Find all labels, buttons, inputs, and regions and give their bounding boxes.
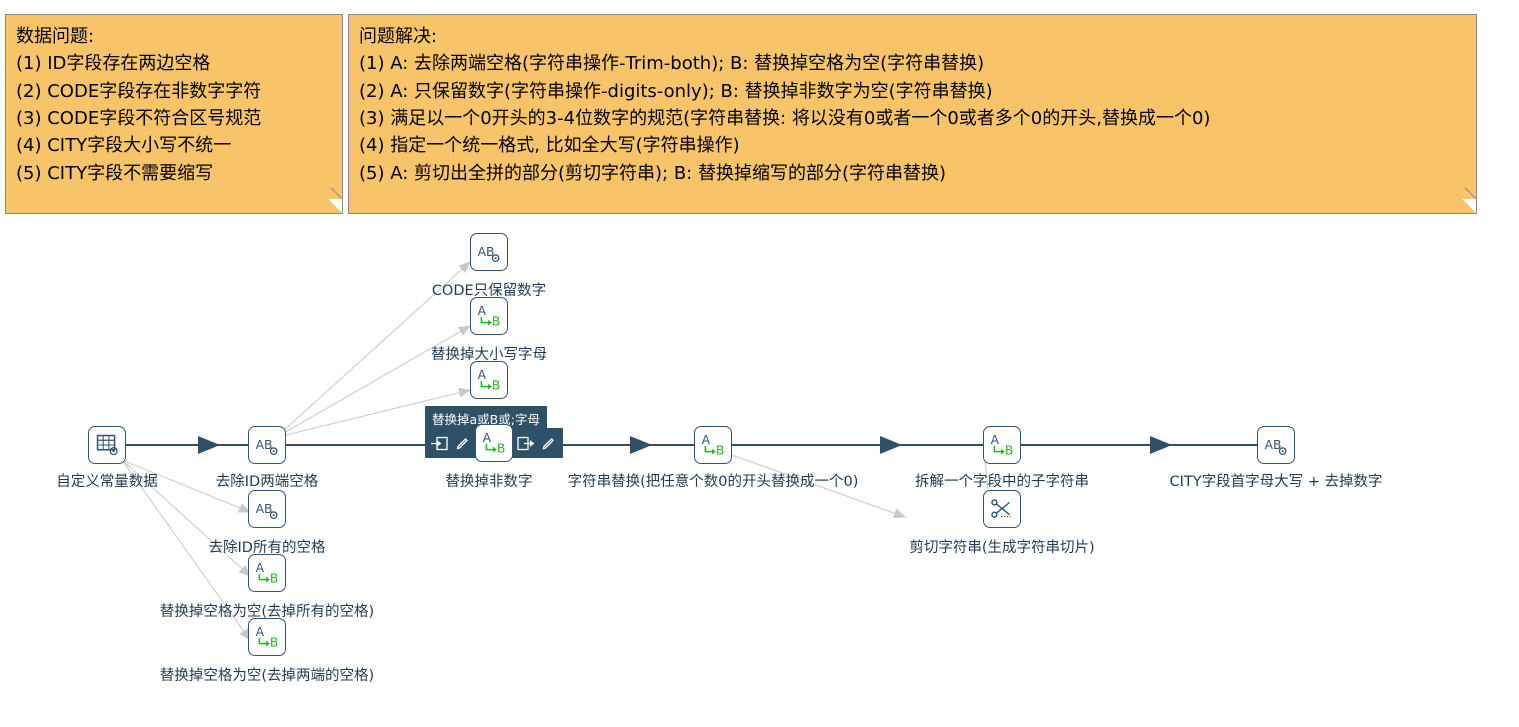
node-replace-case[interactable]: A B (470, 297, 508, 335)
svg-text:A: A (991, 433, 1000, 447)
node-split-sub[interactable]: A B (983, 426, 1021, 464)
node-context-toolbar[interactable]: A B (425, 428, 563, 458)
note-problems-line-2: (2) CODE字段存在非数字字符 (16, 78, 332, 105)
note-solutions-line-4: (4) 指定一个统一格式, 比如全大写(字符串操作) (359, 132, 1466, 159)
node-replace-space-all[interactable]: A B (248, 554, 286, 592)
edit-pen-icon[interactable] (537, 431, 560, 455)
svg-text:B: B (270, 635, 278, 649)
note-solutions-title: 问题解决: (359, 23, 1466, 50)
a-to-b-icon: A B (249, 555, 285, 591)
a-to-b-icon: A B (471, 298, 507, 334)
svg-text:B: B (716, 443, 724, 457)
svg-text:AB: AB (1265, 438, 1282, 452)
ab-gear-icon: AB (1258, 427, 1294, 463)
node-source[interactable] (88, 426, 126, 464)
svg-text:A: A (483, 431, 492, 445)
node-trim-all-id[interactable]: AB (248, 490, 286, 528)
node-city-upper[interactable]: AB (1257, 426, 1295, 464)
ab-gear-icon: AB (249, 491, 285, 527)
insert-before-icon[interactable] (428, 431, 451, 455)
scissors-icon (984, 491, 1020, 527)
svg-text:B: B (497, 441, 505, 455)
svg-text:B: B (270, 571, 278, 585)
a-to-b-icon: A B (471, 362, 507, 398)
svg-text:A: A (256, 561, 265, 575)
svg-text:A: A (478, 368, 487, 382)
svg-text:B: B (492, 378, 500, 392)
node-replace-space-both[interactable]: A B (248, 618, 286, 656)
node-source-label: 自定义常量数据 (56, 470, 158, 491)
svg-text:AB: AB (256, 502, 273, 516)
svg-text:A: A (478, 304, 487, 318)
node-replace-nondigit-label: 替换掉非数字 (446, 470, 533, 491)
svg-text:B: B (1005, 443, 1013, 457)
svg-text:A: A (256, 625, 265, 639)
a-to-b-icon: A B (249, 619, 285, 655)
selected-node-a-to-b-icon[interactable]: A B (475, 424, 513, 462)
note-problems-line-1: (1) ID字段存在两边空格 (16, 50, 332, 77)
node-city-upper-label: CITY字段首字母大写 + 去掉数字 (1170, 470, 1383, 491)
note-problems-line-3: (3) CODE字段不符合区号规范 (16, 105, 332, 132)
note-solutions-line-1: (1) A: 去除两端空格(字符串操作-Trim-both); B: 替换掉空格… (359, 50, 1466, 77)
node-replace-zero[interactable]: A B (694, 426, 732, 464)
diagram-canvas: 数据问题: (1) ID字段存在两边空格 (2) CODE字段存在非数字字符 (… (0, 0, 1519, 727)
node-replace-space-both-label: 替换掉空格为空(去掉两端的空格) (160, 664, 374, 685)
a-to-b-icon: A B (984, 427, 1020, 463)
note-solutions-line-3: (3) 满足以一个0开头的3-4位数字的规范(字符串替换: 将以没有0或者一个0… (359, 105, 1466, 132)
node-cut-string[interactable] (983, 490, 1021, 528)
node-code-digits-only[interactable]: AB (470, 233, 508, 271)
note-solutions-line-2: (2) A: 只保留数字(字符串操作-digits-only); B: 替换掉非… (359, 78, 1466, 105)
svg-text:AB: AB (478, 245, 495, 259)
node-replace-ab[interactable]: A B (470, 361, 508, 399)
note-problems-line-5: (5) CITY字段不需要缩写 (16, 160, 332, 187)
ab-gear-icon: AB (471, 234, 507, 270)
note-solutions-line-5: (5) A: 剪切出全拼的部分(剪切字符串); B: 替换掉缩写的部分(字符串替… (359, 160, 1466, 187)
svg-text:A: A (702, 433, 711, 447)
node-trim-id[interactable]: AB (248, 426, 286, 464)
svg-text:B: B (492, 314, 500, 328)
table-gear-icon (89, 427, 125, 463)
note-fold-corner-icon (328, 199, 343, 214)
insert-after-icon[interactable] (514, 431, 537, 455)
note-fold-corner-icon (1462, 199, 1477, 214)
note-problems-title: 数据问题: (16, 23, 332, 50)
node-split-sub-label: 拆解一个字段中的子字符串 (915, 470, 1089, 491)
note-data-problems[interactable]: 数据问题: (1) ID字段存在两边空格 (2) CODE字段存在非数字字符 (… (5, 14, 343, 214)
node-replace-zero-label: 字符串替换(把任意个数0的开头替换成一个0) (568, 470, 859, 491)
ab-gear-icon: AB (249, 427, 285, 463)
a-to-b-icon: A B (695, 427, 731, 463)
node-trim-id-label: 去除ID两端空格 (216, 470, 318, 491)
note-problems-line-4: (4) CITY字段大小写不统一 (16, 132, 332, 159)
svg-text:AB: AB (256, 438, 273, 452)
note-solutions[interactable]: 问题解决: (1) A: 去除两端空格(字符串操作-Trim-both); B:… (348, 14, 1477, 214)
node-cut-string-label: 剪切字符串(生成字符串切片) (909, 536, 1094, 557)
edit-pencil-icon[interactable] (451, 431, 474, 455)
